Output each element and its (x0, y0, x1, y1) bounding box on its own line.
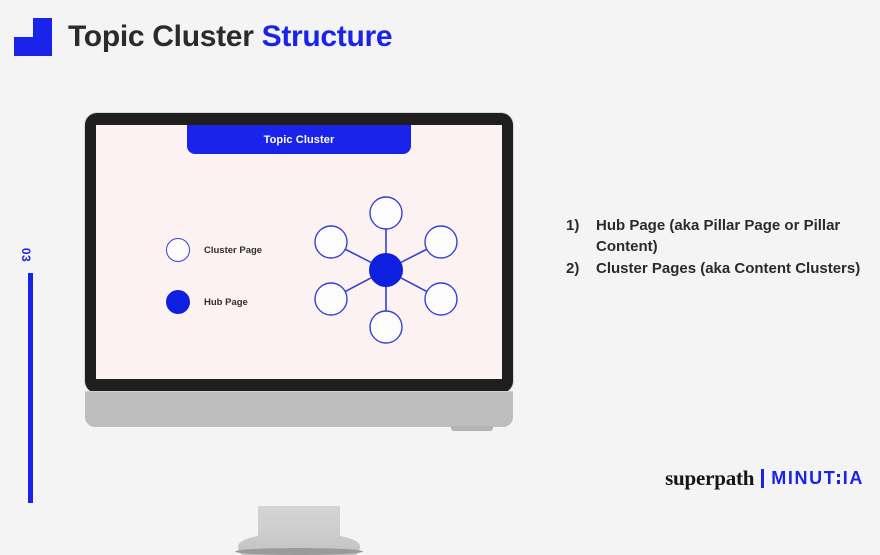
monitor-base (235, 548, 363, 555)
brand-divider (761, 469, 764, 488)
diagram-edge (345, 249, 371, 262)
list-item-text: Cluster Pages (aka Content Clusters) (596, 259, 860, 280)
list-item: 2) Cluster Pages (aka Content Clusters) (566, 259, 866, 280)
cluster-node-bottom (370, 311, 402, 343)
slide-root: Topic Cluster Structure 03 Topic Cluster… (0, 0, 880, 503)
brand-superpath: superpath (665, 466, 754, 491)
hub-page-swatch-icon (166, 290, 190, 314)
list-item: 1) Hub Page (aka Pillar Page or Pillar C… (566, 216, 866, 257)
cluster-node-top-left (315, 226, 347, 258)
monitor-chin-foot (451, 426, 493, 431)
diagram-legend: Cluster Page Hub Page (166, 238, 262, 342)
key-points-list: 1) Hub Page (aka Pillar Page or Pillar C… (566, 216, 866, 282)
hub-and-spoke-diagram (301, 195, 471, 345)
legend-item-cluster-page: Cluster Page (166, 238, 262, 262)
diagram-edge (345, 278, 371, 292)
diagram-nodes (315, 197, 457, 343)
cluster-page-swatch-icon (166, 238, 190, 262)
legend-label-hub-page: Hub Page (204, 297, 248, 308)
brand-minutia-pre: MINUT (771, 468, 836, 489)
monitor-screen: Topic Cluster Cluster Page Hub Page (96, 125, 502, 379)
legend-item-hub-page: Hub Page (166, 290, 262, 314)
list-item-text: Hub Page (aka Pillar Page or Pillar Cont… (596, 216, 866, 257)
monitor-illustration: Topic Cluster Cluster Page Hub Page (85, 113, 513, 427)
monitor-chin (85, 391, 513, 427)
cluster-node-bottom-left (315, 283, 347, 315)
logo-right-bar (33, 18, 52, 56)
section-number: 03 (19, 248, 33, 262)
cluster-node-top-right (425, 226, 457, 258)
brand-minutia: MINUT IA (771, 468, 864, 489)
list-item-number: 2) (566, 259, 584, 280)
list-item-number: 1) (566, 216, 584, 237)
monitor-bezel: Topic Cluster Cluster Page Hub Page (85, 113, 513, 393)
brand-colon-icon (837, 474, 841, 484)
legend-label-cluster-page: Cluster Page (204, 245, 262, 256)
section-rail-bar (28, 273, 33, 503)
brand-minutia-post: IA (843, 468, 864, 489)
topic-cluster-banner-label: Topic Cluster (264, 134, 335, 146)
square-notch-logo-icon (14, 18, 52, 56)
cluster-node-bottom-right (425, 283, 457, 315)
page-title: Topic Cluster Structure (68, 22, 392, 52)
diagram-edge (401, 278, 427, 292)
slide-header: Topic Cluster Structure (14, 18, 392, 56)
topic-cluster-banner: Topic Cluster (187, 125, 411, 154)
cluster-node-top (370, 197, 402, 229)
hub-page-node (369, 253, 403, 287)
brand-lockup: superpath MINUT IA (665, 466, 864, 491)
diagram-edge (401, 249, 427, 262)
hub-and-spoke-svg (301, 195, 471, 345)
page-title-primary: Topic Cluster (68, 20, 254, 53)
page-title-accent: Structure (262, 20, 393, 53)
